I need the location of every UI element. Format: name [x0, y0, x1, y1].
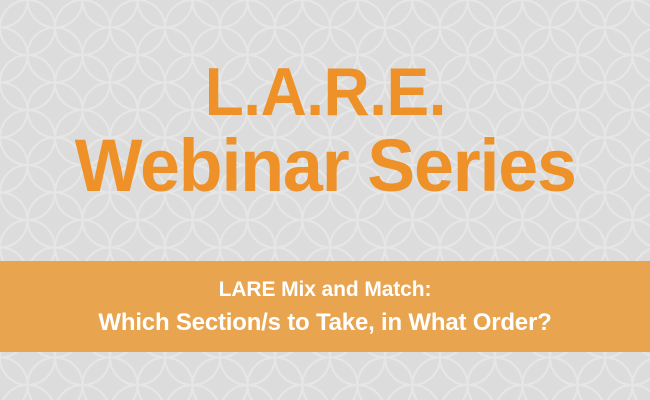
page-title-secondary: Webinar Series [74, 130, 575, 201]
banner-subheadline: Which Section/s to Take, in What Order? [98, 311, 551, 335]
page-title-primary: L.A.R.E. [204, 60, 445, 125]
subtitle-banner: LARE Mix and Match: Which Section/s to T… [0, 261, 650, 352]
title-block: L.A.R.E. Webinar Series [0, 0, 650, 261]
bottom-pattern-strip [0, 352, 650, 400]
promotional-graphic: L.A.R.E. Webinar Series LARE Mix and Mat… [0, 0, 650, 400]
banner-headline: LARE Mix and Match: [219, 279, 432, 300]
